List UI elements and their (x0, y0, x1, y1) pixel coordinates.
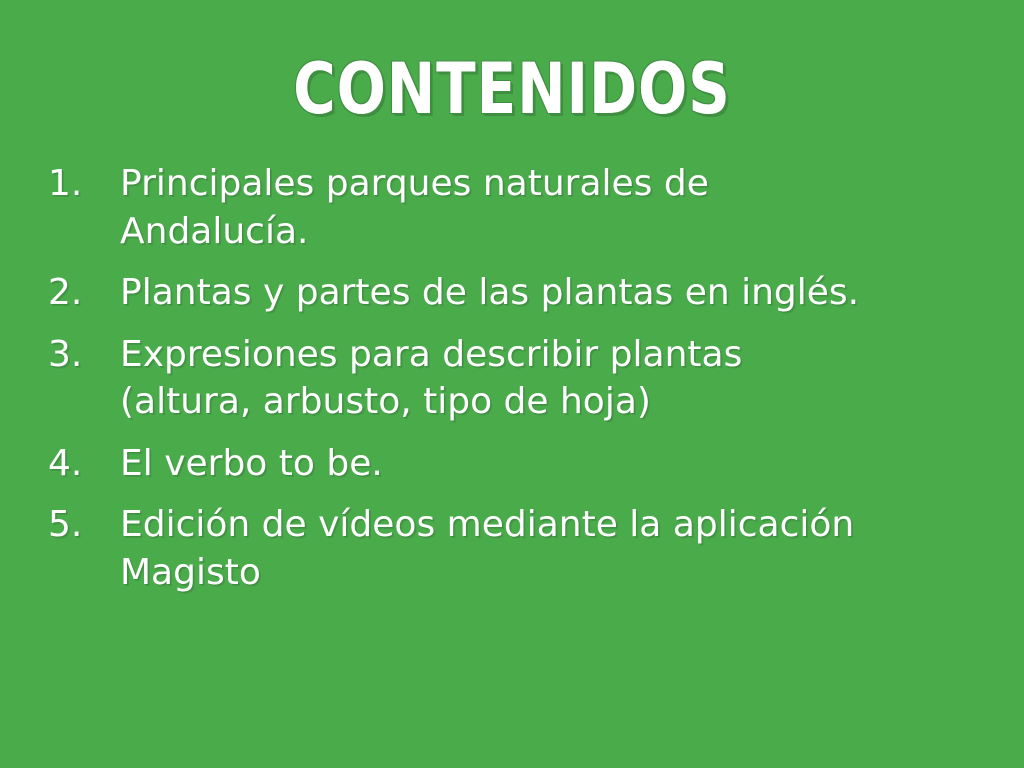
list-item: 3. Expresiones para describir plantas (a… (48, 331, 978, 426)
list-item: 4. El verbo to be. (48, 440, 978, 488)
list-item: 1. Principales parques naturales de Anda… (48, 160, 978, 255)
list-item-number: 5. (48, 501, 120, 549)
list-item-text: El verbo to be. (120, 440, 978, 488)
page-title: CONTENIDOS (41, 54, 983, 124)
list-item-text: Edición de vídeos mediante la aplicación… (120, 501, 978, 596)
contents-list: 1. Principales parques naturales de Anda… (48, 160, 978, 610)
list-item-number: 4. (48, 440, 120, 488)
slide: CONTENIDOS 1. Principales parques natura… (0, 0, 1024, 768)
list-item-text: Expresiones para describir plantas (altu… (120, 331, 978, 426)
list-item: 5. Edición de vídeos mediante la aplicac… (48, 501, 978, 596)
list-item-number: 3. (48, 331, 120, 379)
list-item-text: Plantas y partes de las plantas en inglé… (120, 269, 978, 317)
list-item-text: Principales parques naturales de Andaluc… (120, 160, 978, 255)
list-item-number: 1. (48, 160, 120, 208)
list-item: 2. Plantas y partes de las plantas en in… (48, 269, 978, 317)
list-item-number: 2. (48, 269, 120, 317)
